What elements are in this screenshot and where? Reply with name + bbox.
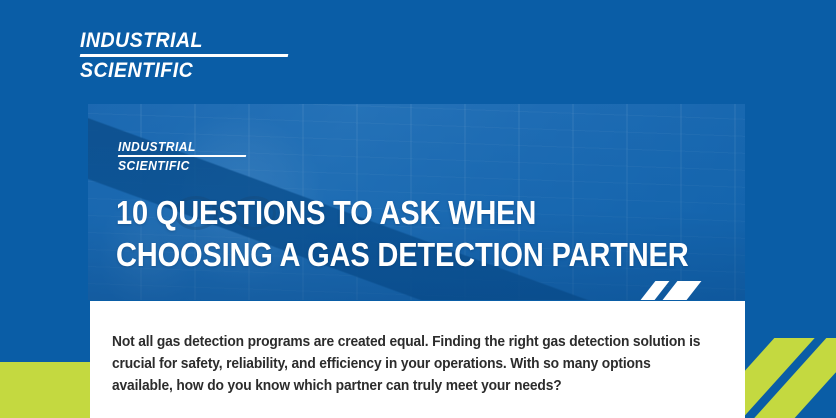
brand-logo-rule	[80, 54, 289, 57]
brand-logo-overlay-rule	[118, 155, 246, 157]
lime-accent-block	[0, 362, 90, 418]
brand-logo-overlay-line2: SCIENTIFIC	[118, 159, 237, 172]
headline-line-1: 10 QUESTIONS TO ASK WHEN	[116, 192, 689, 234]
intro-text-card: Not all gas detection programs are creat…	[90, 301, 745, 418]
brand-logo-overlay-line1: INDUSTRIAL	[118, 140, 237, 153]
lime-stripe-decor	[745, 338, 836, 418]
brand-logo-overlay: INDUSTRIAL SCIENTIFIC	[118, 140, 246, 172]
brand-logo-line1: INDUSTRIAL	[80, 30, 294, 51]
intro-paragraph: Not all gas detection programs are creat…	[112, 332, 705, 397]
banner-canvas: INDUSTRIAL SCIENTIFIC INDUSTRIAL SCIENTI…	[0, 0, 836, 418]
brand-logo-top[interactable]: INDUSTRIAL SCIENTIFIC	[80, 30, 310, 84]
headline-line-2: CHOOSING A GAS DETECTION PARTNER	[116, 234, 689, 276]
hero-headline: 10 QUESTIONS TO ASK WHEN CHOOSING A GAS …	[116, 192, 689, 275]
brand-logo-line2: SCIENTIFIC	[80, 60, 294, 81]
